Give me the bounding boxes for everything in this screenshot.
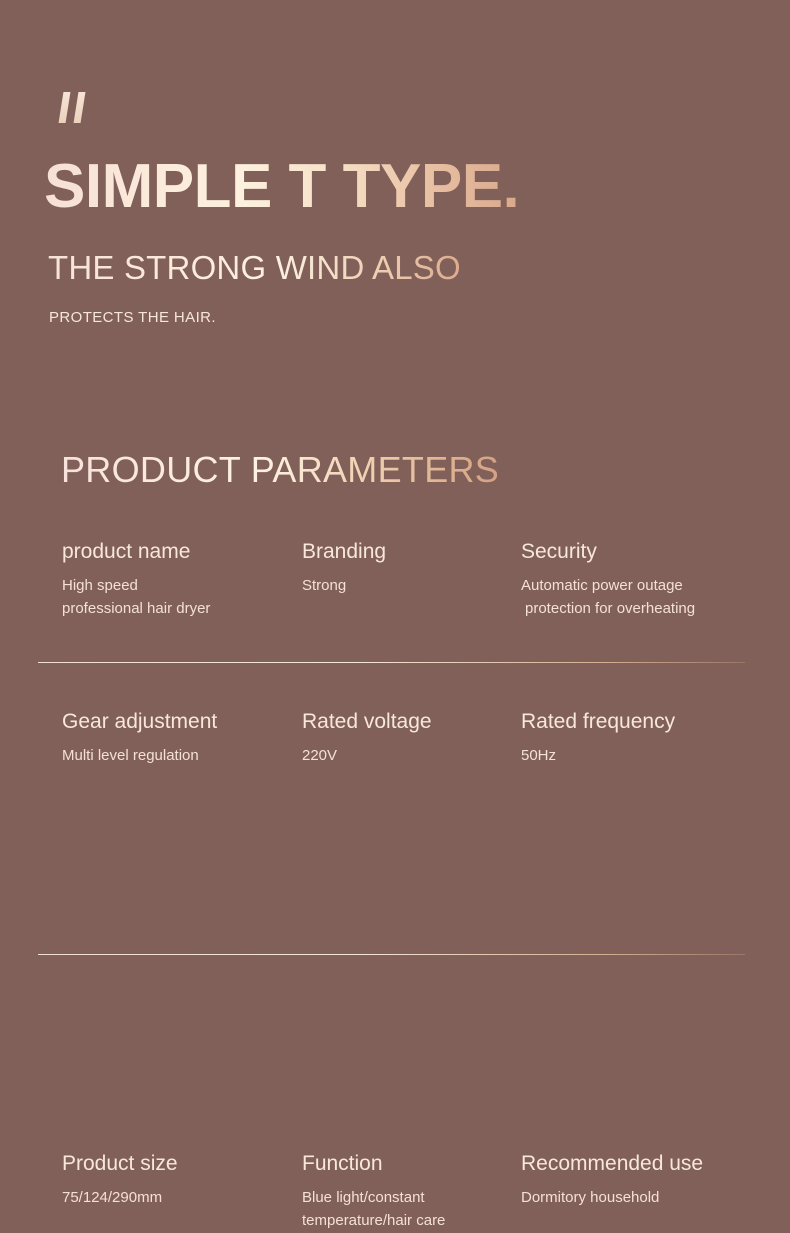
spec-label: Function [302, 1152, 522, 1176]
spec-cell-branding: Branding Strong [302, 540, 522, 597]
row-divider [38, 954, 745, 955]
quote-bar-left [59, 92, 71, 123]
spec-value-line1: Blue light/constant [302, 1189, 425, 1206]
spec-label: Security [521, 540, 776, 564]
spec-label: Recommended use [521, 1152, 776, 1176]
spec-value-line1: Automatic power outage [521, 577, 683, 594]
hero-subtitle: THE STRONG WIND ALSO [48, 251, 461, 284]
spec-row: Product size 75/124/290mm Function Blue … [0, 792, 790, 914]
quote-bar-right [74, 92, 86, 123]
spec-value-line1: Multi level regulation [62, 747, 199, 764]
product-parameters-table: product name High speed professional hai… [0, 540, 790, 914]
spec-value: Strong [302, 574, 522, 597]
spec-cell-rated-frequency: Rated frequency 50Hz [521, 710, 776, 767]
spec-label: Branding [302, 540, 522, 564]
hero-title: SIMPLE T TYPE. [44, 156, 519, 218]
spec-value-line1: Dormitory household [521, 1189, 659, 1206]
spec-value-line1: 75/124/290mm [62, 1189, 162, 1206]
spec-cell-function: Function Blue light/constant temperature… [302, 1152, 522, 1233]
spec-cell-recommended-use: Recommended use Dormitory household [521, 1152, 776, 1209]
spec-value-line2: temperature/hair care [302, 1212, 445, 1229]
product-parameters-heading: PRODUCT PARAMETERS [61, 452, 499, 488]
spec-label: Product size [62, 1152, 302, 1176]
spec-value-line1: 220V [302, 747, 337, 764]
quotation-mark-icon [59, 92, 99, 126]
spec-value-line1: High speed [62, 577, 138, 594]
spec-value: Dormitory household [521, 1186, 776, 1209]
spec-cell-gear-adjustment: Gear adjustment Multi level regulation [62, 710, 302, 767]
spec-value: 50Hz [521, 744, 776, 767]
spec-label: product name [62, 540, 302, 564]
spec-value: Blue light/constant temperature/hair car… [302, 1186, 522, 1233]
spec-label: Rated frequency [521, 710, 776, 734]
spec-value: 75/124/290mm [62, 1186, 302, 1209]
spec-value: 220V [302, 744, 522, 767]
spec-value-line1: 50Hz [521, 747, 556, 764]
spec-label: Rated voltage [302, 710, 522, 734]
spec-value: Multi level regulation [62, 744, 302, 767]
spec-value-line2: protection for overheating [521, 597, 695, 620]
spec-cell-security: Security Automatic power outage protecti… [521, 540, 776, 621]
spec-value-line1: Strong [302, 577, 346, 594]
spec-value-line2: professional hair dryer [62, 600, 210, 617]
spec-label: Gear adjustment [62, 710, 302, 734]
hero-tagline: PROTECTS THE HAIR. [49, 309, 216, 326]
spec-cell-product-size: Product size 75/124/290mm [62, 1152, 302, 1209]
spec-cell-rated-voltage: Rated voltage 220V [302, 710, 522, 767]
spec-value: High speed professional hair dryer [62, 574, 302, 621]
spec-row: Gear adjustment Multi level regulation R… [0, 662, 790, 792]
spec-value: Automatic power outage protection for ov… [521, 574, 776, 621]
spec-cell-product-name: product name High speed professional hai… [62, 540, 302, 621]
spec-row: product name High speed professional hai… [0, 540, 790, 662]
